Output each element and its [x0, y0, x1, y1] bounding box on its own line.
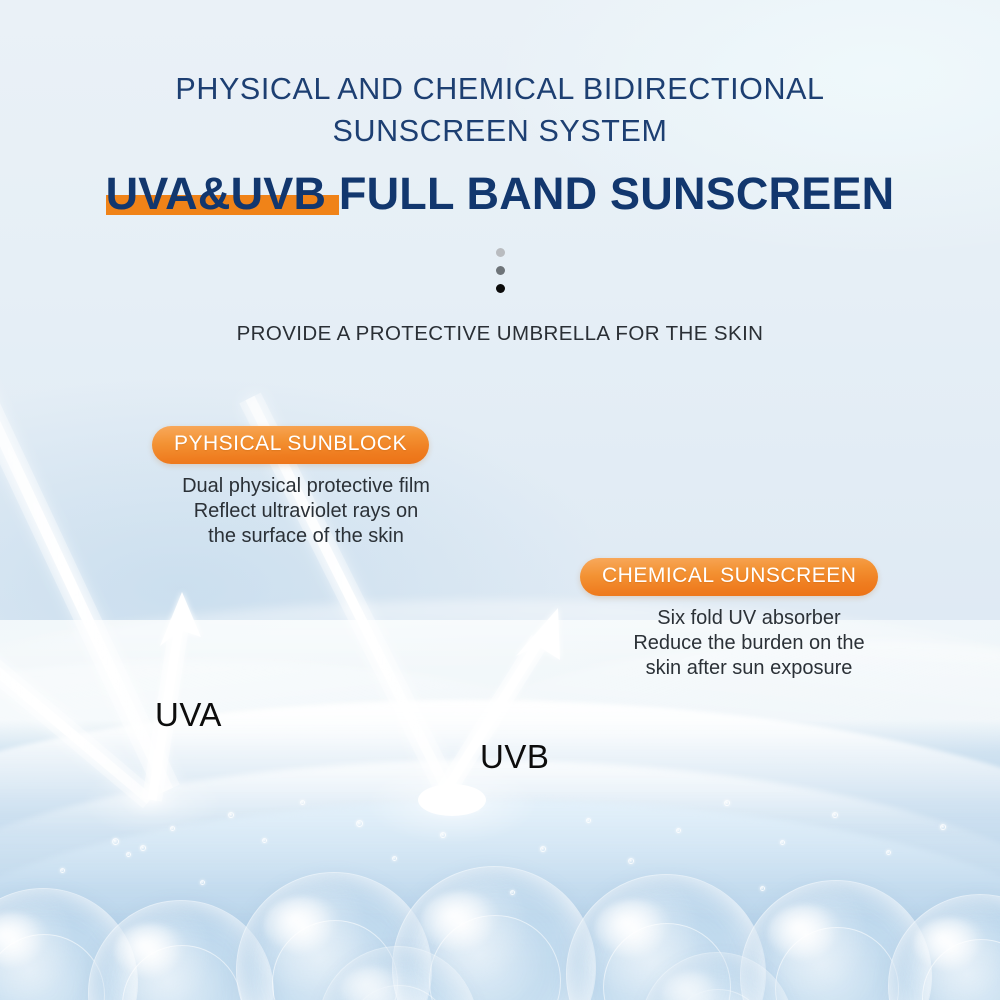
- micro-bubble: [228, 812, 234, 818]
- headline-wrapper: UVA&UVB FULL BAND SUNSCREEN: [106, 168, 895, 220]
- callout-chemical-sunscreen: CHEMICAL SUNSCREEN Six fold UV absorber …: [580, 558, 908, 681]
- label-uva: UVA: [155, 696, 222, 734]
- micro-bubble: [586, 818, 591, 823]
- micro-bubble: [676, 828, 681, 833]
- micro-bubble: [392, 856, 397, 861]
- kicker-line-2: SUNSCREEN SYSTEM: [0, 110, 1000, 152]
- micro-bubble: [112, 838, 119, 845]
- micro-bubble: [540, 846, 546, 852]
- dot-medium-icon: [496, 266, 505, 275]
- dot-separator: [0, 248, 1000, 293]
- micro-bubble: [940, 824, 946, 830]
- page-title: UVA&UVB FULL BAND SUNSCREEN: [106, 168, 895, 220]
- micro-bubble: [832, 812, 838, 818]
- micro-bubble: [300, 800, 305, 805]
- micro-bubble: [628, 858, 634, 864]
- micro-bubble: [440, 832, 446, 838]
- callout-chemical-body: Six fold UV absorber Reduce the burden o…: [580, 606, 908, 681]
- micro-bubble: [356, 820, 363, 827]
- dot-dark-icon: [496, 284, 505, 293]
- kicker-line-1: PHYSICAL AND CHEMICAL BIDIRECTIONAL: [0, 68, 1000, 110]
- micro-bubble: [780, 840, 785, 845]
- micro-bubble: [60, 868, 65, 873]
- micro-bubble: [474, 806, 479, 811]
- micro-bubble: [760, 886, 765, 891]
- dot-light-icon: [496, 248, 505, 257]
- callout-physical-body: Dual physical protective film Reflect ul…: [152, 474, 452, 549]
- badge-chemical-sunscreen: CHEMICAL SUNSCREEN: [580, 558, 878, 596]
- heading-block: PHYSICAL AND CHEMICAL BIDIRECTIONAL SUNS…: [0, 68, 1000, 220]
- micro-bubble: [140, 845, 146, 851]
- micro-bubble: [170, 826, 175, 831]
- label-uvb: UVB: [480, 738, 549, 776]
- subtitle: PROVIDE A PROTECTIVE UMBRELLA FOR THE SK…: [0, 322, 1000, 346]
- micro-bubble: [510, 890, 515, 895]
- badge-physical-sunblock: PYHSICAL SUNBLOCK: [152, 426, 429, 464]
- micro-bubble: [262, 838, 267, 843]
- micro-bubble: [886, 850, 891, 855]
- callout-physical-sunblock: PYHSICAL SUNBLOCK Dual physical protecti…: [152, 426, 452, 549]
- micro-bubble: [126, 852, 131, 857]
- sunscreen-infographic-poster: PHYSICAL AND CHEMICAL BIDIRECTIONAL SUNS…: [0, 0, 1000, 1000]
- micro-bubble: [724, 800, 730, 806]
- micro-bubble: [200, 880, 205, 885]
